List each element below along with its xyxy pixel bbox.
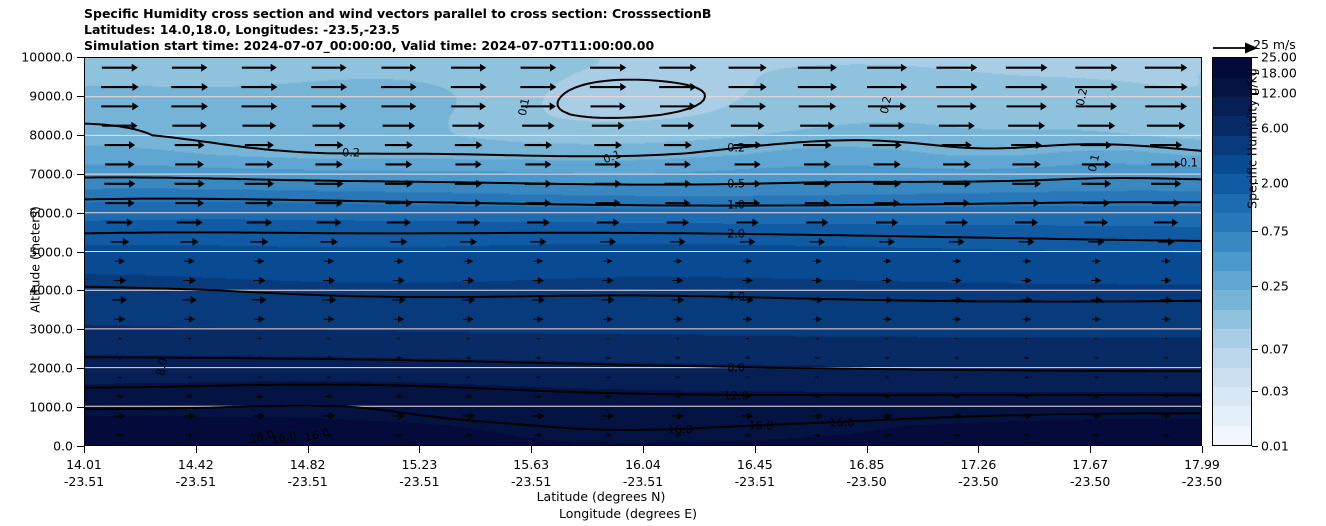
wind-vector — [606, 376, 610, 379]
wind-vector — [532, 296, 545, 304]
wind-vector — [393, 412, 405, 419]
y-tick-mark — [77, 368, 84, 369]
y-tick-mark — [77, 446, 84, 447]
y-tick-label: 3000.0 — [29, 322, 73, 337]
wind-vector — [883, 433, 890, 437]
wind-vector — [521, 64, 557, 72]
x-tick-label: 17.26-23.50 — [958, 456, 998, 490]
wind-vector — [184, 316, 195, 323]
wind-vector — [393, 277, 405, 284]
wind-vector — [257, 376, 262, 379]
wind-vector — [1019, 238, 1035, 246]
wind-vector — [676, 376, 680, 379]
wind-vector — [661, 122, 694, 130]
wind-vector — [315, 141, 344, 149]
wind-vector — [535, 395, 542, 399]
x-tick-mark — [196, 446, 197, 453]
colorbar-tick-label: 0.07 — [1261, 342, 1289, 357]
wind-vector — [1162, 258, 1171, 264]
wind-vector — [392, 296, 406, 304]
wind-vector — [1008, 122, 1045, 130]
wind-vector — [1163, 395, 1169, 399]
wind-vector — [186, 395, 193, 399]
wind-vector — [385, 141, 413, 149]
colorbar-tick-label: 6.00 — [1261, 120, 1289, 135]
wind-vector — [386, 199, 413, 207]
wind-vector — [116, 433, 123, 437]
wind-vector — [1021, 277, 1031, 283]
wind-vector — [463, 277, 475, 284]
wind-vector — [885, 337, 888, 339]
wind-vector — [949, 238, 965, 246]
wind-vector — [114, 413, 125, 420]
x-tick-label: 14.82-23.51 — [287, 456, 327, 490]
wind-vector — [1006, 64, 1048, 72]
wind-vector — [242, 64, 277, 72]
y-tick-mark — [77, 252, 84, 253]
wind-vector — [1160, 296, 1172, 303]
wind-vector — [731, 122, 765, 130]
wind-vector — [253, 277, 265, 284]
wind-vector — [175, 160, 204, 168]
wind-vector — [315, 199, 342, 207]
wind-vector — [951, 296, 963, 303]
wind-vector — [530, 238, 546, 246]
title-line-2: Latitudes: 14.0,18.0, Longitudes: -23.5,… — [84, 22, 711, 38]
wind-vector — [673, 258, 682, 263]
x-tick-label: 15.63-23.51 — [511, 456, 551, 490]
y-tick-label: 6000.0 — [29, 205, 73, 220]
wind-vector — [604, 433, 612, 438]
wind-vector — [327, 337, 331, 339]
wind-vector — [737, 218, 759, 226]
wind-vector — [873, 180, 900, 188]
wind-vector — [312, 102, 347, 110]
wind-vector — [742, 413, 754, 420]
wind-vector — [952, 413, 963, 419]
wind-vector — [885, 356, 890, 359]
contour-label: 0.1 — [1180, 157, 1198, 170]
wind-vector — [745, 356, 750, 359]
wind-vector — [804, 160, 831, 168]
title-line-1: Specific Humidity cross section and wind… — [84, 6, 711, 22]
wind-vector — [800, 122, 834, 130]
title-line-3: Simulation start time: 2024-07-07_00:00:… — [84, 38, 711, 54]
wind-vector — [247, 218, 272, 226]
wind-vector — [729, 102, 766, 110]
wind-vector — [456, 199, 482, 207]
x-tick-label: 16.04-23.51 — [623, 456, 663, 490]
wind-vector — [882, 277, 892, 283]
wind-vector — [672, 277, 683, 283]
wind-vector — [1025, 376, 1029, 378]
chart-title: Specific Humidity cross section and wind… — [84, 6, 711, 55]
wind-vector — [597, 218, 620, 226]
wind-vector — [393, 316, 404, 322]
wind-vector — [451, 102, 486, 110]
wind-vector — [1095, 337, 1098, 339]
wind-vector — [172, 122, 207, 130]
y-tick-mark — [77, 174, 84, 175]
wind-vector — [1164, 376, 1168, 378]
figure-canvas: Specific Humidity cross section and wind… — [0, 0, 1326, 526]
wind-vector — [455, 141, 483, 149]
wind-vector — [600, 238, 616, 246]
wind-vector — [1161, 277, 1172, 283]
wind-vector — [250, 238, 268, 246]
wind-vector — [746, 376, 750, 378]
contour-label: 8.0 — [727, 361, 745, 374]
wind-vector — [1081, 141, 1113, 149]
wind-vector — [1093, 395, 1099, 399]
colorbar-tick-label: 18.00 — [1261, 66, 1297, 81]
wind-vector-arrows — [85, 58, 1201, 445]
wind-vector — [592, 122, 625, 130]
wind-vector — [395, 433, 403, 438]
wind-vector — [1162, 316, 1171, 321]
wind-vector — [256, 394, 263, 398]
wind-vector — [874, 160, 901, 168]
wind-vector — [463, 316, 474, 322]
x-tick-label: 15.23-23.51 — [399, 456, 439, 490]
wind-vector — [883, 259, 892, 264]
wind-vector — [451, 64, 486, 72]
wind-vector — [522, 122, 554, 130]
wind-vector — [111, 238, 129, 246]
wind-vector — [525, 160, 551, 168]
x-tick-label: 14.01-23.51 — [64, 456, 104, 490]
colorbar-tick-mark — [1252, 349, 1258, 350]
wind-vector — [104, 180, 135, 188]
wind-vector — [101, 102, 138, 110]
wind-vector — [665, 199, 690, 207]
x-tick-label: 17.67-23.50 — [1070, 456, 1110, 490]
x-tick-mark — [643, 446, 644, 453]
wind-vector — [397, 337, 401, 339]
colorbar-tick-mark — [1252, 446, 1258, 447]
wind-vector — [729, 83, 767, 91]
wind-vector — [312, 64, 347, 72]
colorbar-tick-label: 2.00 — [1261, 175, 1289, 190]
wind-vector — [324, 258, 334, 264]
wind-vector — [605, 395, 612, 399]
wind-vector — [953, 433, 960, 437]
wind-vector — [323, 412, 335, 419]
wind-vector — [659, 83, 696, 91]
wind-vector — [660, 102, 696, 110]
wind-vector — [943, 180, 971, 188]
wind-vector — [536, 376, 540, 379]
wind-vector — [872, 141, 901, 149]
wind-vector — [457, 218, 480, 226]
y-tick-mark — [77, 213, 84, 214]
y-tick-label: 10000.0 — [21, 50, 73, 65]
wind-vector — [952, 277, 962, 283]
wind-vector — [311, 83, 347, 91]
colorbar-tick-label: 0.01 — [1261, 439, 1289, 454]
wind-vector — [742, 277, 753, 283]
wind-vector — [876, 218, 898, 226]
wind-vector — [533, 316, 543, 322]
wind-vector — [188, 337, 192, 339]
wind-vector — [327, 376, 332, 379]
wind-vector — [1092, 317, 1101, 322]
colorbar-axis-label: Specific Humidity g/kg — [1245, 19, 1260, 259]
wind-vector — [806, 218, 828, 226]
wind-vector — [590, 83, 627, 91]
contour-label: 12.0 — [724, 389, 749, 402]
wind-vector — [107, 218, 133, 226]
wind-vector — [315, 160, 342, 168]
wind-vector — [1024, 395, 1030, 399]
wind-vector — [116, 395, 123, 399]
y-tick-label: 1000.0 — [29, 400, 73, 415]
wind-vector — [885, 376, 889, 378]
wind-vector — [175, 180, 205, 188]
wind-vector — [386, 160, 413, 168]
contour-label: 1.0 — [727, 199, 745, 212]
x-tick-mark — [531, 446, 532, 453]
wind-vector — [1025, 337, 1028, 339]
wind-vector — [381, 102, 416, 110]
wind-vector — [323, 277, 335, 284]
contour-label: 0.5 — [727, 177, 745, 190]
wind-vector — [394, 258, 404, 264]
colorbar-tick-label: 12.00 — [1261, 86, 1297, 101]
wind-vector — [520, 83, 556, 91]
wind-vector — [1006, 102, 1046, 110]
wind-vector — [1012, 180, 1041, 188]
wind-vector — [1154, 218, 1178, 226]
wind-vector — [744, 433, 752, 438]
contour-label: 16.0 — [829, 416, 854, 429]
x-tick-label: 16.85-23.50 — [846, 456, 886, 490]
wind-vector — [812, 413, 823, 420]
wind-vector — [603, 316, 613, 322]
y-tick-label: 0.0 — [53, 439, 73, 454]
wind-vector — [1090, 296, 1102, 303]
colorbar-band — [1213, 406, 1251, 426]
x-tick-mark — [308, 446, 309, 453]
wind-vector — [254, 316, 265, 323]
cross-section-plot[interactable] — [84, 57, 1202, 446]
colorbar-tick-label: 0.75 — [1261, 224, 1289, 239]
wind-vector — [590, 102, 625, 110]
wind-vector — [252, 296, 266, 304]
wind-vector — [874, 199, 899, 207]
wind-vector — [1151, 160, 1181, 168]
wind-vector — [1145, 83, 1188, 91]
y-tick-mark — [77, 96, 84, 97]
wind-vector — [665, 180, 692, 188]
wind-vector — [1015, 218, 1038, 226]
wind-vector — [451, 83, 487, 91]
colorbar-tick-mark — [1252, 286, 1258, 287]
contour-label: 16.0 — [749, 420, 774, 433]
wind-vector — [466, 376, 470, 379]
colorbar-band — [1213, 367, 1251, 387]
wind-vector — [1093, 433, 1100, 437]
wind-vector — [942, 141, 972, 149]
wind-vector — [867, 83, 907, 91]
wind-vector — [882, 413, 893, 420]
wind-vector — [395, 394, 402, 398]
wind-vector — [172, 64, 207, 72]
y-tick-label: 4000.0 — [29, 283, 73, 298]
wind-vector — [1011, 141, 1042, 149]
wind-vector — [729, 64, 767, 72]
y-tick-label: 9000.0 — [29, 88, 73, 103]
wind-vector — [937, 102, 976, 110]
colorbar-band — [1213, 328, 1251, 348]
wind-vector — [462, 296, 475, 304]
wind-vector — [676, 337, 680, 339]
wind-vector — [187, 376, 191, 379]
x-axis-label-latitude: Latitude (degrees N) — [0, 489, 1202, 504]
wind-vector — [659, 64, 696, 72]
wind-vector — [1145, 64, 1187, 72]
wind-vector — [746, 337, 750, 339]
contour-label: 2.0 — [727, 227, 745, 240]
contour-label: 16.0 — [668, 423, 693, 436]
y-tick-mark — [77, 135, 84, 136]
wind-vector — [936, 64, 977, 72]
wind-vector — [955, 376, 959, 378]
wind-vector — [534, 258, 543, 264]
wind-vector — [603, 277, 614, 284]
wind-vector — [254, 258, 264, 264]
x-axis-label-longitude: Longitude (degrees E) — [0, 506, 1256, 521]
wind-vector — [1161, 413, 1171, 419]
wind-vector — [1023, 433, 1030, 437]
wind-vector — [1164, 337, 1167, 339]
wind-vector — [812, 277, 822, 283]
wind-vector — [815, 356, 820, 359]
wind-vector — [816, 337, 819, 339]
x-tick-mark — [755, 446, 756, 453]
wind-vector — [245, 180, 274, 188]
wind-vector — [1091, 277, 1101, 283]
wind-vector — [525, 180, 552, 188]
wind-vector — [102, 64, 138, 72]
wind-vector — [1091, 413, 1101, 419]
wind-vector — [943, 160, 971, 168]
wind-vector — [1094, 356, 1099, 359]
wind-vector — [534, 433, 542, 438]
x-tick-label: 16.45-23.51 — [735, 456, 775, 490]
wind-vector — [463, 412, 475, 419]
wind-vector — [881, 296, 893, 303]
wind-vector — [182, 296, 196, 304]
wind-vector — [867, 64, 907, 72]
wind-vector — [186, 433, 194, 437]
wind-vector — [241, 83, 277, 91]
y-tick-label: 5000.0 — [29, 244, 73, 259]
wind-vector — [675, 356, 681, 359]
wind-vector — [673, 316, 683, 322]
wind-vector — [242, 102, 278, 110]
colorbar-tick-mark — [1252, 391, 1258, 392]
wind-vector — [466, 356, 472, 360]
wind-vector — [184, 412, 196, 419]
wind-vector — [798, 83, 837, 91]
wind-vector — [811, 296, 823, 303]
wind-vector — [381, 83, 417, 91]
wind-vector — [804, 180, 831, 188]
colorbar-band — [1213, 270, 1251, 290]
wind-vector — [315, 180, 344, 188]
wind-vector — [606, 337, 610, 339]
wind-vector — [171, 102, 207, 110]
wind-vector — [1082, 180, 1111, 188]
x-tick-mark — [419, 446, 420, 453]
wind-vector — [324, 316, 335, 323]
wind-vector — [533, 277, 544, 284]
wind-vector — [105, 141, 136, 149]
wind-vector — [115, 258, 126, 264]
wind-vector — [187, 356, 193, 360]
wind-vector — [101, 83, 138, 91]
wind-vector — [175, 141, 205, 149]
wind-vector — [460, 238, 477, 246]
wind-vector — [256, 356, 262, 360]
wind-vector — [936, 83, 977, 91]
wind-vector — [667, 218, 689, 226]
wind-vector — [532, 412, 544, 419]
wind-vector — [465, 433, 473, 438]
colorbar-band — [1213, 386, 1251, 406]
wind-vector — [1095, 376, 1099, 378]
x-tick-mark — [978, 446, 979, 453]
wind-vector — [743, 316, 753, 322]
wind-vector — [883, 316, 892, 322]
wind-vector — [1088, 238, 1104, 246]
x-tick-label: 14.42-23.51 — [176, 456, 216, 490]
wind-vector — [664, 141, 692, 149]
wind-vector — [1075, 64, 1117, 72]
wind-vector — [798, 64, 837, 72]
wind-vector — [177, 218, 203, 226]
x-tick-mark — [84, 446, 85, 453]
wind-vector — [1145, 102, 1187, 110]
wind-vector — [810, 238, 825, 246]
wind-vector — [814, 433, 821, 437]
contour-label: 0.2 — [342, 147, 360, 160]
wind-vector — [383, 122, 416, 130]
colorbar-tick-label: 25.00 — [1261, 50, 1297, 65]
wind-vector — [455, 160, 481, 168]
wind-vector — [1021, 413, 1031, 419]
wind-vector — [527, 218, 550, 226]
wind-vector — [245, 141, 274, 149]
wind-vector — [1151, 180, 1181, 188]
colorbar-band — [1213, 290, 1251, 310]
colorbar-band — [1213, 348, 1251, 368]
colorbar-band — [1213, 309, 1251, 329]
wind-vector — [939, 122, 975, 130]
wind-vector — [525, 141, 553, 149]
wind-vector — [884, 395, 890, 399]
wind-vector — [1078, 122, 1116, 130]
wind-vector — [535, 356, 541, 359]
wind-vector — [799, 102, 837, 110]
y-tick-mark — [77, 329, 84, 330]
wind-vector — [326, 394, 333, 398]
wind-vector — [1022, 259, 1031, 264]
wind-vector — [385, 180, 413, 188]
wind-vector — [102, 122, 137, 130]
wind-vector — [815, 376, 819, 378]
